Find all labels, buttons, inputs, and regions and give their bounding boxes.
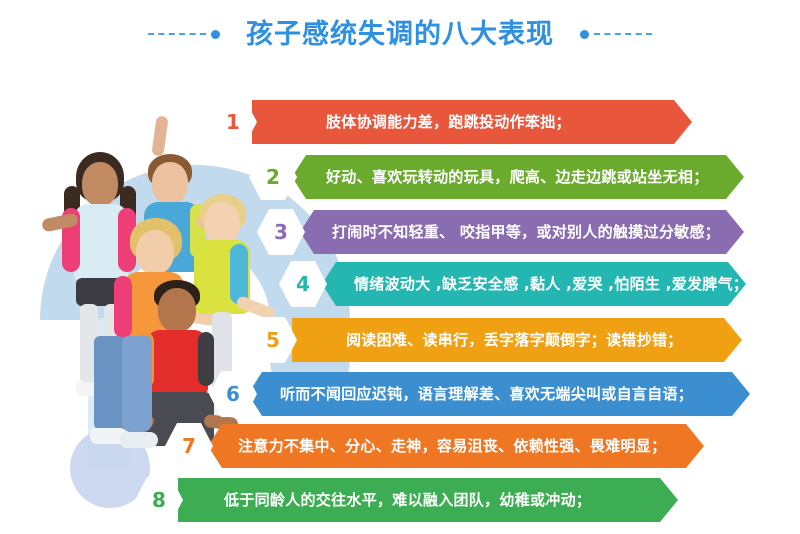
step-number-badge[interactable]: 7 xyxy=(165,422,213,470)
step-number: 6 xyxy=(226,384,240,404)
symptom-row: 听而不闻回应迟钝，语言理解差、喜欢无端尖叫或自言自语；6 xyxy=(0,372,800,416)
step-number-badge[interactable]: 3 xyxy=(257,208,305,256)
title-dash-right xyxy=(594,33,652,35)
hexagon-icon: 8 xyxy=(135,476,183,524)
symptom-banner[interactable]: 注意力不集中、分心、走神，容易沮丧、依赖性强、畏难明显； xyxy=(208,424,704,468)
symptom-text: 情绪波动大 ,缺乏安全感 ,黏人 ,爱哭 ,怕陌生 ,爱发脾气； xyxy=(354,277,748,292)
symptom-banner[interactable]: 好动、喜欢玩转动的玩具，爬高、边走边跳或站坐无相； xyxy=(292,155,744,199)
symptom-row: 低于同龄人的交往水平，难以融入团队，幼稚或冲动；8 xyxy=(0,478,800,522)
symptom-banner[interactable]: 打闹时不知轻重、 咬指甲等，或对别人的触摸过分敏感； xyxy=(300,210,744,254)
step-number-badge[interactable]: 5 xyxy=(249,316,297,364)
step-number: 3 xyxy=(274,222,288,242)
symptom-row: 情绪波动大 ,缺乏安全感 ,黏人 ,爱哭 ,怕陌生 ,爱发脾气；4 xyxy=(0,262,800,306)
step-number-badge[interactable]: 6 xyxy=(209,370,257,418)
symptom-banner[interactable]: 肢体协调能力差，跑跳投动作笨拙； xyxy=(252,100,692,144)
symptom-text: 听而不闻回应迟钝，语言理解差、喜欢无端尖叫或自言自语； xyxy=(280,387,693,402)
symptom-text: 低于同龄人的交往水平，难以融入团队，幼稚或冲动； xyxy=(224,493,591,508)
hexagon-icon: 7 xyxy=(165,422,213,470)
infographic-canvas: 孩子感统失调的八大表现 xyxy=(0,0,800,534)
step-number: 5 xyxy=(266,330,280,350)
symptom-text: 注意力不集中、分心、走神，容易沮丧、依赖性强、畏难明显； xyxy=(238,439,666,454)
step-number-badge[interactable]: 2 xyxy=(249,153,297,201)
symptom-text: 好动、喜欢玩转动的玩具，爬高、边走边跳或站坐无相； xyxy=(326,170,709,185)
title-dot-right-icon xyxy=(580,30,589,39)
step-number: 2 xyxy=(266,167,280,187)
hexagon-icon: 2 xyxy=(249,153,297,201)
symptom-row: 注意力不集中、分心、走神，容易沮丧、依赖性强、畏难明显；7 xyxy=(0,424,800,468)
symptom-banner[interactable]: 阅读困难、读串行，丢字落字颠倒字；读错抄错； xyxy=(292,318,742,362)
page-title: 孩子感统失调的八大表现 xyxy=(246,21,554,48)
step-number-badge[interactable]: 1 xyxy=(209,98,257,146)
hexagon-icon: 1 xyxy=(209,98,257,146)
step-number: 1 xyxy=(226,112,240,132)
hexagon-icon: 4 xyxy=(279,260,327,308)
hexagon-icon: 3 xyxy=(257,208,305,256)
symptom-row: 肢体协调能力差，跑跳投动作笨拙；1 xyxy=(0,100,800,144)
symptom-text: 肢体协调能力差，跑跳投动作笨拙； xyxy=(326,115,571,130)
symptom-row: 阅读困难、读串行，丢字落字颠倒字；读错抄错；5 xyxy=(0,318,800,362)
symptom-banner[interactable]: 听而不闻回应迟钝，语言理解差、喜欢无端尖叫或自言自语； xyxy=(248,372,750,416)
title-dash-left xyxy=(148,33,206,35)
hexagon-icon: 6 xyxy=(209,370,257,418)
step-number: 4 xyxy=(296,274,310,294)
title-dot-left-icon xyxy=(211,30,220,39)
step-number-badge[interactable]: 4 xyxy=(279,260,327,308)
page-title-bar: 孩子感统失调的八大表现 xyxy=(0,14,800,54)
symptom-text: 打闹时不知轻重、 咬指甲等，或对别人的触摸过分敏感； xyxy=(332,225,720,240)
symptom-row: 打闹时不知轻重、 咬指甲等，或对别人的触摸过分敏感；3 xyxy=(0,210,800,254)
hexagon-icon: 5 xyxy=(249,316,297,364)
symptom-text: 阅读困难、读串行，丢字落字颠倒字；读错抄错； xyxy=(346,333,683,348)
step-number-badge[interactable]: 8 xyxy=(135,476,183,524)
step-number: 7 xyxy=(182,436,196,456)
symptom-row: 好动、喜欢玩转动的玩具，爬高、边走边跳或站坐无相；2 xyxy=(0,155,800,199)
step-number: 8 xyxy=(152,490,166,510)
symptom-banner[interactable]: 情绪波动大 ,缺乏安全感 ,黏人 ,爱哭 ,怕陌生 ,爱发脾气； xyxy=(322,262,746,306)
symptom-banner[interactable]: 低于同龄人的交往水平，难以融入团队，幼稚或冲动； xyxy=(178,478,678,522)
